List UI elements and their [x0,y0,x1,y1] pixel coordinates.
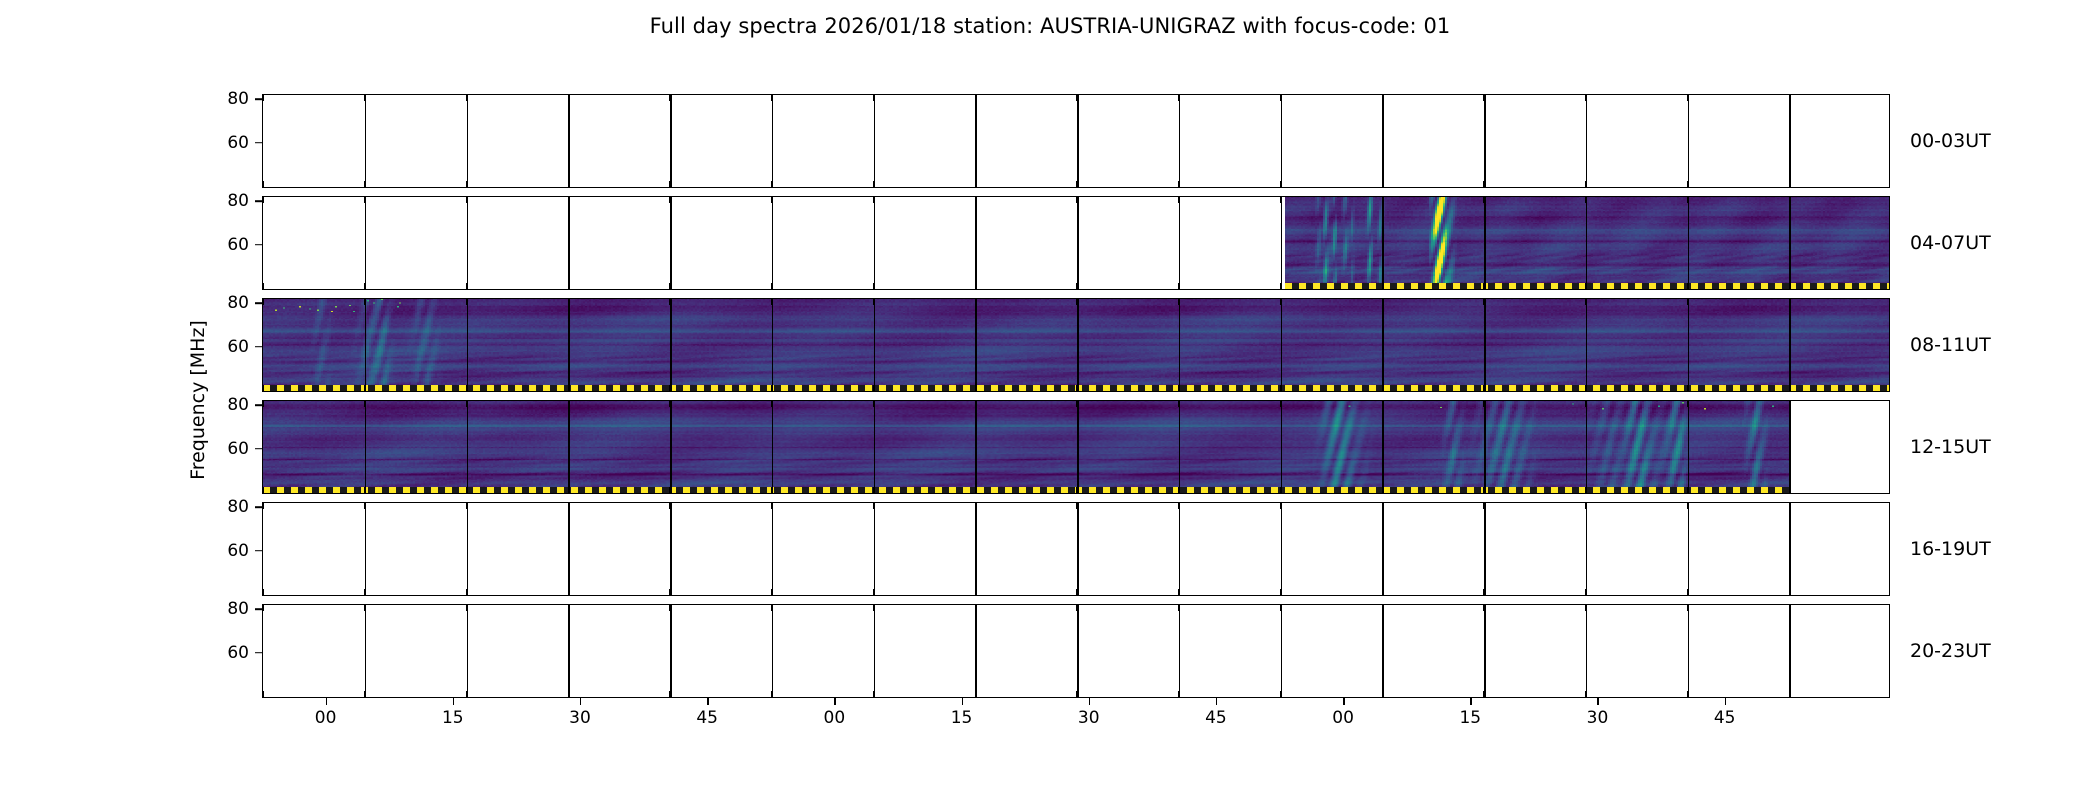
subpanel-separator [365,605,367,697]
subpanel-separator [772,95,774,187]
panel-tick [1483,95,1484,101]
x-tick-label: 00 [315,708,337,728]
panel-tick [669,197,670,203]
row-time-label: 08-11UT [1910,334,1991,356]
panel-tick [364,197,365,203]
panel-tick [1789,487,1790,493]
panel-tick [364,181,365,187]
panel-tick [1178,691,1179,697]
subpanel-separator [365,197,367,289]
panel-tick [1483,589,1484,595]
panel-tick [466,181,467,187]
panel-tick [466,691,467,697]
panel-tick [975,299,976,305]
panel-tick [263,95,264,101]
panel-tick [771,503,772,509]
y-axis-label: Frequency [MHz] [187,320,209,480]
panel-tick [873,181,874,187]
panel-tick [1483,283,1484,289]
panel-tick [568,589,569,595]
y-tick-label: 80 [227,599,262,619]
panel-tick [1178,487,1179,493]
x-tick-mark [962,698,964,705]
subpanel-separator [1484,401,1486,493]
panel-tick [771,487,772,493]
x-tick-label: 30 [569,708,591,728]
panel-tick [1687,487,1688,493]
panel-tick [1382,197,1383,203]
subpanel-separator [1281,197,1283,289]
panel-tick [1178,503,1179,509]
subpanel-separator [772,503,774,595]
panel-tick [1585,691,1586,697]
subpanel-separator [568,401,570,493]
panel-tick [771,197,772,203]
panel-tick [1789,283,1790,289]
panel-tick [1076,401,1077,407]
y-tick-label: 80 [227,89,262,109]
panel-tick [1382,487,1383,493]
panel-tick [364,503,365,509]
subpanel-separator [772,401,774,493]
panel-tick [1687,589,1688,595]
subpanel-separator [1281,605,1283,697]
panel-tick [1076,385,1077,391]
panel-tick [669,691,670,697]
y-tick-label: 60 [227,235,262,255]
panel-tick [1889,181,1890,187]
x-tick-mark [834,698,836,705]
subpanel-separator [365,401,367,493]
subpanel-separator [1281,95,1283,187]
panel-tick [1889,605,1890,611]
panel-tick [669,401,670,407]
panel-tick [873,605,874,611]
panel-tick [263,487,264,493]
panel-tick [1382,589,1383,595]
panel-tick [1889,691,1890,697]
panel-tick [364,95,365,101]
x-tick-mark [453,698,455,705]
panel-tick [669,385,670,391]
panel-tick [1483,503,1484,509]
quality-dash-strip [263,487,1790,493]
panel-tick [1280,95,1281,101]
panel-tick [568,401,569,407]
panel-tick [466,283,467,289]
subpanel-separator [467,401,469,493]
subpanel-separator [1077,95,1079,187]
panel-tick [1483,197,1484,203]
panel-plot-area [262,502,1890,596]
panel-tick [364,283,365,289]
subpanel-separator [772,197,774,289]
panel-tick [1280,503,1281,509]
panel-tick [873,385,874,391]
panel-tick [1789,691,1790,697]
row-time-label: 04-07UT [1910,232,1991,254]
panel-tick [1076,181,1077,187]
panel-tick [364,487,365,493]
subpanel-separator [365,95,367,187]
subpanel-separator [1382,605,1384,697]
subpanel-separator [1179,197,1181,289]
panel-tick [1178,95,1179,101]
panel-tick [873,401,874,407]
subpanel-separator [1077,503,1079,595]
x-tick-label: 00 [824,708,846,728]
subpanel-separator [874,95,876,187]
x-tick-label: 30 [1078,708,1100,728]
panel-tick [1483,299,1484,305]
panel-tick [263,605,264,611]
panel-tick [466,401,467,407]
panel-tick [263,385,264,391]
subpanel-separator [1688,605,1690,697]
panel-tick [975,487,976,493]
subpanel-separator [975,197,977,289]
subpanel-separator [1789,503,1791,595]
y-tick-label: 60 [227,439,262,459]
x-tick-label: 15 [442,708,464,728]
panel-tick [1178,299,1179,305]
panel-tick [1789,299,1790,305]
panel-tick [873,95,874,101]
panel-tick [873,299,874,305]
panel-tick [1687,95,1688,101]
x-tick-mark [1725,698,1727,705]
subpanel-separator [1077,401,1079,493]
panel-tick [1789,181,1790,187]
panel-tick [263,181,264,187]
panel-tick [1382,605,1383,611]
panel-tick [1789,385,1790,391]
panel-tick [568,197,569,203]
panel-tick [568,95,569,101]
figure-canvas: Full day spectra 2026/01/18 station: AUS… [0,0,2100,800]
panel-tick [1889,95,1890,101]
panel-tick [669,589,670,595]
subpanel-separator [1382,197,1384,289]
subpanel-separator [568,503,570,595]
subpanel-separator [1077,605,1079,697]
subpanel-separator [1382,503,1384,595]
subpanel-separator [1484,605,1486,697]
panel-tick [1076,197,1077,203]
panel-tick [975,283,976,289]
panel-tick [1687,503,1688,509]
subpanel-separator [1789,95,1791,187]
spectrogram-image [1285,197,1890,289]
panel-tick [1687,283,1688,289]
panel-tick [1280,487,1281,493]
panel-tick [1585,283,1586,289]
panel-tick [669,95,670,101]
y-tick-label: 60 [227,133,262,153]
panel-tick [771,691,772,697]
x-tick-label: 30 [1587,708,1609,728]
subpanel-separator [1382,95,1384,187]
panel-tick [466,299,467,305]
subpanel-separator [874,197,876,289]
subpanel-separator [1484,503,1486,595]
panel-tick [1382,691,1383,697]
subpanel-separator [975,503,977,595]
x-axis: 001530450015304500153045 [262,698,1890,748]
panel-tick [1280,181,1281,187]
panel-tick [1889,197,1890,203]
x-tick-mark [707,698,709,705]
subpanel-separator [1586,401,1588,493]
panel-tick [568,605,569,611]
panel-tick [771,385,772,391]
subpanel-separator [365,503,367,595]
subpanel-separator [1484,299,1486,391]
panel-tick [873,487,874,493]
panel-tick [364,605,365,611]
panel-tick [1280,605,1281,611]
panel-tick [1483,691,1484,697]
panel-tick [466,589,467,595]
subpanel-separator [1077,299,1079,391]
panel-tick [1789,95,1790,101]
panel-tick [975,197,976,203]
panel-tick [1178,401,1179,407]
subpanel-separator [874,503,876,595]
x-tick-label: 45 [1205,708,1227,728]
x-tick-label: 45 [696,708,718,728]
panel-tick [568,181,569,187]
panel-tick [1889,503,1890,509]
panel-tick [669,605,670,611]
subpanel-separator [1688,299,1690,391]
x-tick-mark [1343,698,1345,705]
panel-tick [364,589,365,595]
panel-tick [975,605,976,611]
panel-tick [263,691,264,697]
spectrogram-row-08-11ut: 8060 [262,298,1890,392]
y-tick-label: 80 [227,293,262,313]
panel-tick [1178,197,1179,203]
panel-tick [568,299,569,305]
panel-tick [1889,283,1890,289]
panel-tick [1687,385,1688,391]
subpanel-separator [1789,197,1791,289]
panel-tick [568,283,569,289]
panel-tick [1585,95,1586,101]
panel-tick [1076,95,1077,101]
panel-tick [1076,605,1077,611]
subpanel-separator [1179,299,1181,391]
panel-tick [1687,401,1688,407]
panel-tick [1585,181,1586,187]
panel-tick [975,503,976,509]
page-title: Full day spectra 2026/01/18 station: AUS… [0,14,2100,38]
subpanel-separator [975,401,977,493]
panel-tick [1178,181,1179,187]
x-tick-mark [1470,698,1472,705]
panel-tick [1382,95,1383,101]
panel-tick [1889,401,1890,407]
subpanel-separator [467,503,469,595]
subpanel-separator [772,605,774,697]
panel-tick [1483,385,1484,391]
subpanel-separator [670,299,672,391]
panel-tick [1483,401,1484,407]
panel-tick [1687,181,1688,187]
panel-tick [466,503,467,509]
panel-tick [1483,181,1484,187]
panel-tick [1178,605,1179,611]
panel-tick [1889,385,1890,391]
panel-tick [1889,299,1890,305]
panel-plot-area [262,196,1890,290]
y-tick-label: 60 [227,541,262,561]
x-tick-mark [326,698,328,705]
panel-tick [1382,385,1383,391]
subpanel-separator [1179,401,1181,493]
y-tick-label: 80 [227,497,262,517]
panel-tick [1178,589,1179,595]
panel-tick [669,181,670,187]
panel-tick [1585,401,1586,407]
panel-tick [975,691,976,697]
panel-tick [1382,401,1383,407]
panel-tick [771,95,772,101]
panel-tick [466,385,467,391]
panel-tick [669,503,670,509]
subpanel-separator [1179,95,1181,187]
panel-tick [568,487,569,493]
subpanel-separator [1281,503,1283,595]
subpanel-separator [1382,299,1384,391]
y-tick-label: 60 [227,337,262,357]
panel-tick [1076,299,1077,305]
panel-tick [1585,299,1586,305]
panel-tick [1585,605,1586,611]
panel-tick [873,283,874,289]
panel-tick [364,401,365,407]
subpanel-separator [1586,197,1588,289]
panel-tick [873,589,874,595]
panel-tick [771,401,772,407]
panel-tick [1076,283,1077,289]
panel-tick [263,197,264,203]
panel-tick [1280,691,1281,697]
x-tick-label: 15 [1459,708,1481,728]
panel-plot-area [262,400,1890,494]
subpanel-separator [772,299,774,391]
panel-tick [669,283,670,289]
subpanel-separator [1688,503,1690,595]
panel-tick [1076,503,1077,509]
subpanel-separator [975,605,977,697]
spectrogram-row-04-07ut: 8060 [262,196,1890,290]
panel-tick [1382,181,1383,187]
panel-tick [1076,487,1077,493]
subpanel-separator [670,197,672,289]
subpanel-separator [1688,197,1690,289]
panel-tick [771,605,772,611]
panel-tick [568,691,569,697]
panel-tick [873,503,874,509]
panel-tick [568,503,569,509]
quality-dash-strip [1285,283,1890,289]
x-tick-label: 15 [951,708,973,728]
panel-tick [1280,299,1281,305]
panel-tick [669,299,670,305]
panel-tick [1585,385,1586,391]
panel-tick [1076,691,1077,697]
panel-tick [263,401,264,407]
panel-tick [1789,589,1790,595]
subpanel-separator [568,197,570,289]
panel-tick [1687,605,1688,611]
panel-tick [263,299,264,305]
panel-tick [873,691,874,697]
panel-tick [975,401,976,407]
panel-tick [364,691,365,697]
panel-tick [1076,589,1077,595]
x-tick-mark [1089,698,1091,705]
spectrogram-row-20-23ut: 8060 [262,604,1890,698]
subpanel-separator [1281,299,1283,391]
subpanel-separator [467,95,469,187]
panel-tick [1789,605,1790,611]
subpanel-separator [1688,401,1690,493]
row-time-label: 00-03UT [1910,130,1991,152]
subpanel-separator [975,95,977,187]
row-time-label: 20-23UT [1910,640,1991,662]
y-tick-label: 60 [227,643,262,663]
subpanel-separator [467,197,469,289]
panel-tick [1178,385,1179,391]
subpanel-separator [670,401,672,493]
panel-tick [975,95,976,101]
panel-plot-area [262,604,1890,698]
subpanel-separator [1484,95,1486,187]
x-tick-mark [580,698,582,705]
subpanel-separator [1179,605,1181,697]
subpanel-separator [1382,401,1384,493]
subpanel-separator [1179,503,1181,595]
subpanel-separator [1586,503,1588,595]
panel-tick [1280,401,1281,407]
panel-tick [1483,487,1484,493]
subpanel-separator [670,95,672,187]
x-tick-label: 00 [1332,708,1354,728]
panel-tick [975,589,976,595]
panel-tick [771,181,772,187]
panel-tick [263,283,264,289]
panel-tick [1280,197,1281,203]
subpanel-separator [1586,605,1588,697]
subpanel-separator [1789,299,1791,391]
subpanel-separator [568,299,570,391]
panel-tick [873,197,874,203]
panel-tick [1382,503,1383,509]
subpanel-separator [1077,197,1079,289]
panel-plot-area [262,298,1890,392]
x-tick-mark [1597,698,1599,705]
panel-tick [1687,197,1688,203]
panel-tick [1687,691,1688,697]
panel-plot-area [262,94,1890,188]
panel-tick [1483,605,1484,611]
panel-tick [466,197,467,203]
panel-tick [1687,299,1688,305]
subpanel-separator [670,503,672,595]
